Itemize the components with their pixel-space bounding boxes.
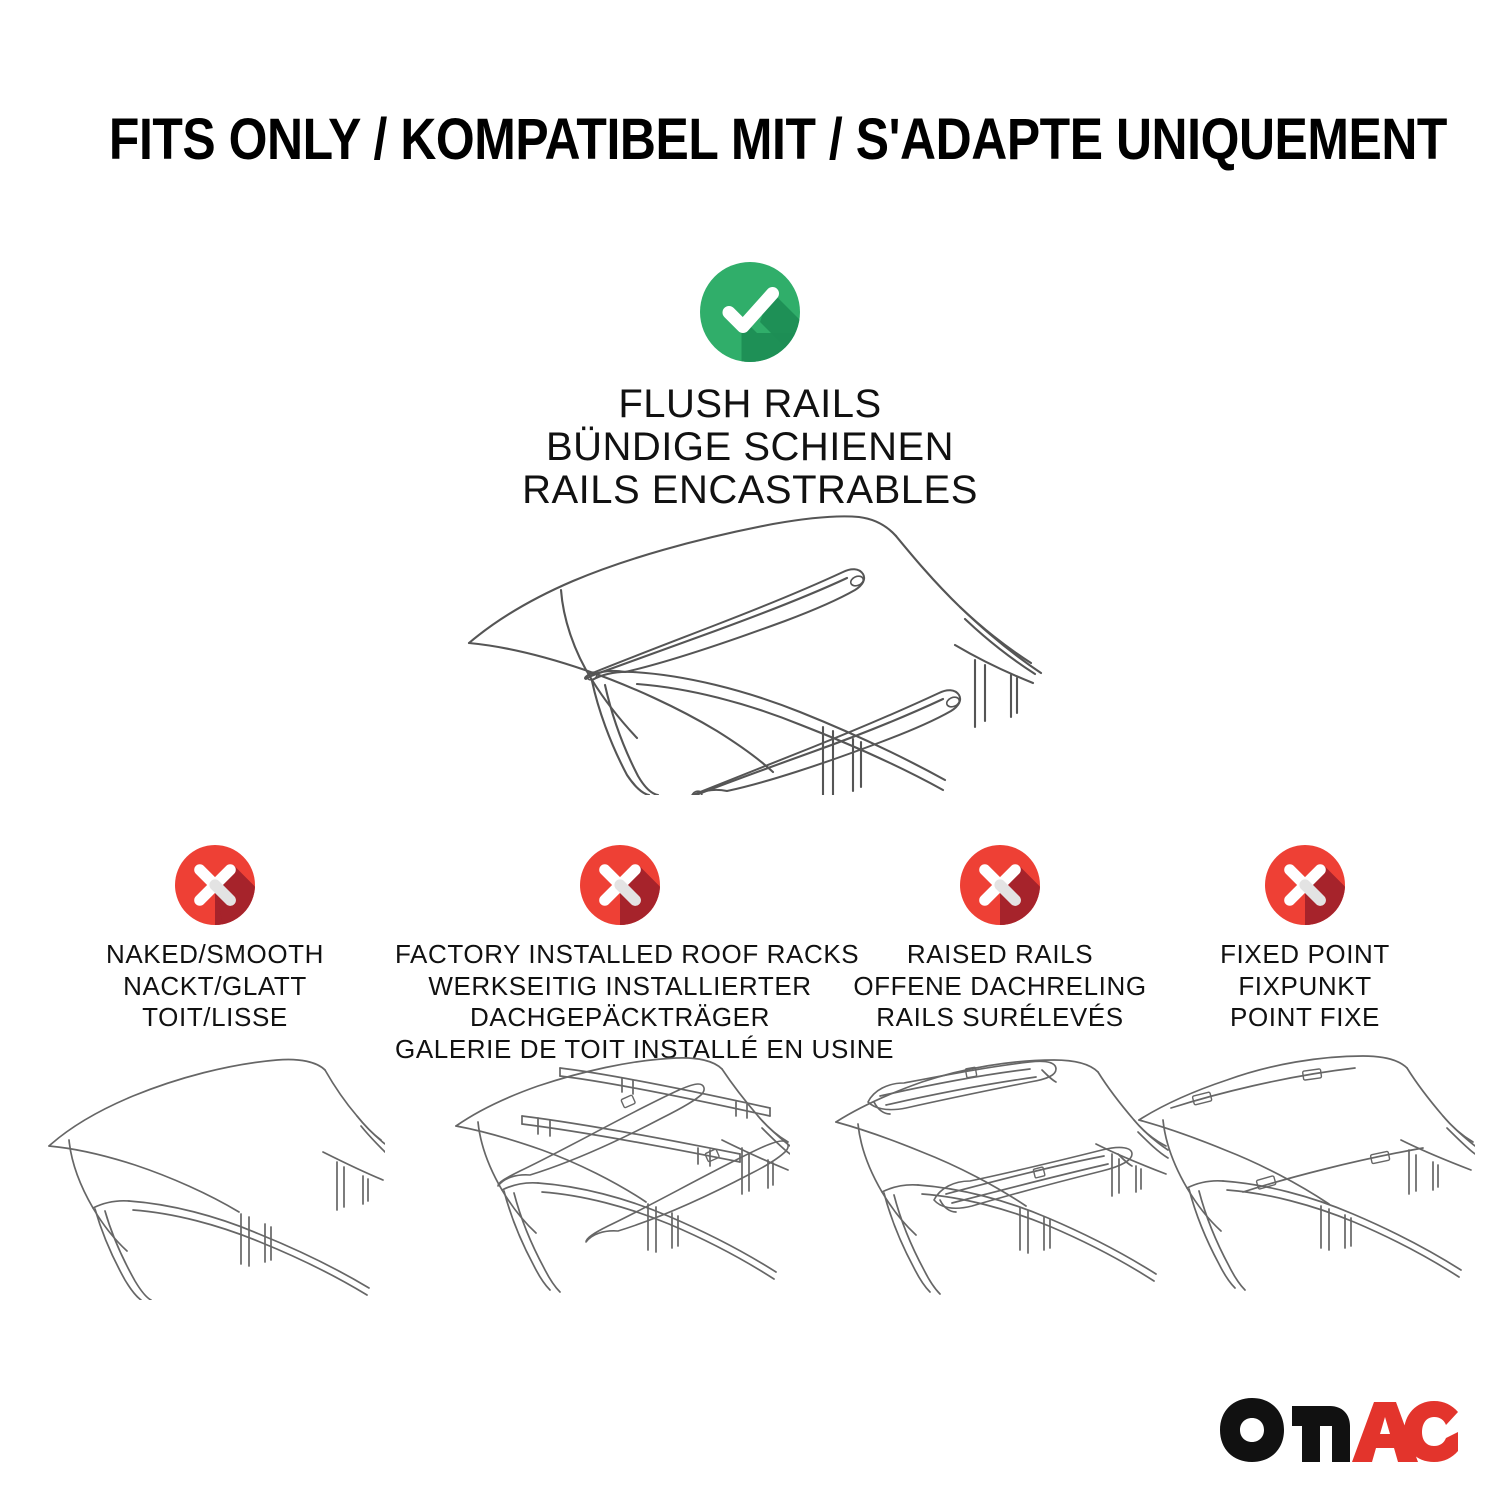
compatible-label-de: BÜNDIGE SCHIENEN: [0, 426, 1500, 469]
incompatible-label: FIXED POINT FIXPUNKT POINT FIXE: [1150, 939, 1460, 1034]
label-de: OFFENE DACHRELING: [830, 971, 1170, 1003]
label-fr: TOIT/LISSE: [45, 1002, 385, 1034]
label-de-2: DACHGEPÄCKTRÄGER: [395, 1002, 845, 1034]
label-de: NACKT/GLATT: [45, 971, 385, 1003]
car-roof-factory-roof-racks-illustration: [450, 1050, 790, 1300]
incompatible-item-factory-roof-racks: FACTORY INSTALLED ROOF RACKS WERKSEITIG …: [395, 845, 845, 1066]
label-en: NAKED/SMOOTH: [45, 939, 385, 971]
label-en: RAISED RAILS: [830, 939, 1170, 971]
page-title-text: FITS ONLY / KOMPATIBEL MIT / S'ADAPTE UN…: [109, 106, 1447, 173]
x-circle-icon: [580, 845, 660, 925]
incompatible-label: FACTORY INSTALLED ROOF RACKS WERKSEITIG …: [395, 939, 845, 1066]
incompatible-section: NAKED/SMOOTH NACKT/GLATT TOIT/LISSE: [0, 845, 1500, 1325]
label-de-1: WERKSEITIG INSTALLIERTER: [395, 971, 845, 1003]
page-title: FITS ONLY / KOMPATIBEL MIT / S'ADAPTE UN…: [0, 106, 1500, 173]
label-en: FIXED POINT: [1150, 939, 1460, 971]
label-fr: RAILS SURÉLEVÉS: [830, 1002, 1170, 1034]
incompatible-item-fixed-point: FIXED POINT FIXPUNKT POINT FIXE: [1150, 845, 1460, 1034]
compatible-label: FLUSH RAILS BÜNDIGE SCHIENEN RAILS ENCAS…: [0, 383, 1500, 513]
incompatible-item-naked-smooth: NAKED/SMOOTH NACKT/GLATT TOIT/LISSE: [45, 845, 385, 1034]
omac-logo: [1220, 1398, 1458, 1462]
compatible-label-en: FLUSH RAILS: [0, 383, 1500, 426]
x-circle-icon: [175, 845, 255, 925]
x-circle-icon: [1265, 845, 1345, 925]
compatible-section: FLUSH RAILS BÜNDIGE SCHIENEN RAILS ENCAS…: [0, 262, 1500, 513]
incompatible-label: RAISED RAILS OFFENE DACHRELING RAILS SUR…: [830, 939, 1170, 1034]
label-en: FACTORY INSTALLED ROOF RACKS: [395, 939, 845, 971]
car-roof-fixed-point-illustration: [1135, 1050, 1475, 1300]
car-roof-raised-rails-illustration: [830, 1050, 1170, 1300]
label-de: FIXPUNKT: [1150, 971, 1460, 1003]
incompatible-label: NAKED/SMOOTH NACKT/GLATT TOIT/LISSE: [45, 939, 385, 1034]
car-roof-flush-rails-illustration: [455, 495, 1055, 795]
check-circle-icon: [700, 262, 800, 362]
car-roof-naked-smooth-illustration: [45, 1050, 385, 1300]
infographic-page: FITS ONLY / KOMPATIBEL MIT / S'ADAPTE UN…: [0, 0, 1500, 1500]
incompatible-item-raised-rails: RAISED RAILS OFFENE DACHRELING RAILS SUR…: [830, 845, 1170, 1034]
label-fr: POINT FIXE: [1150, 1002, 1460, 1034]
x-circle-icon: [960, 845, 1040, 925]
